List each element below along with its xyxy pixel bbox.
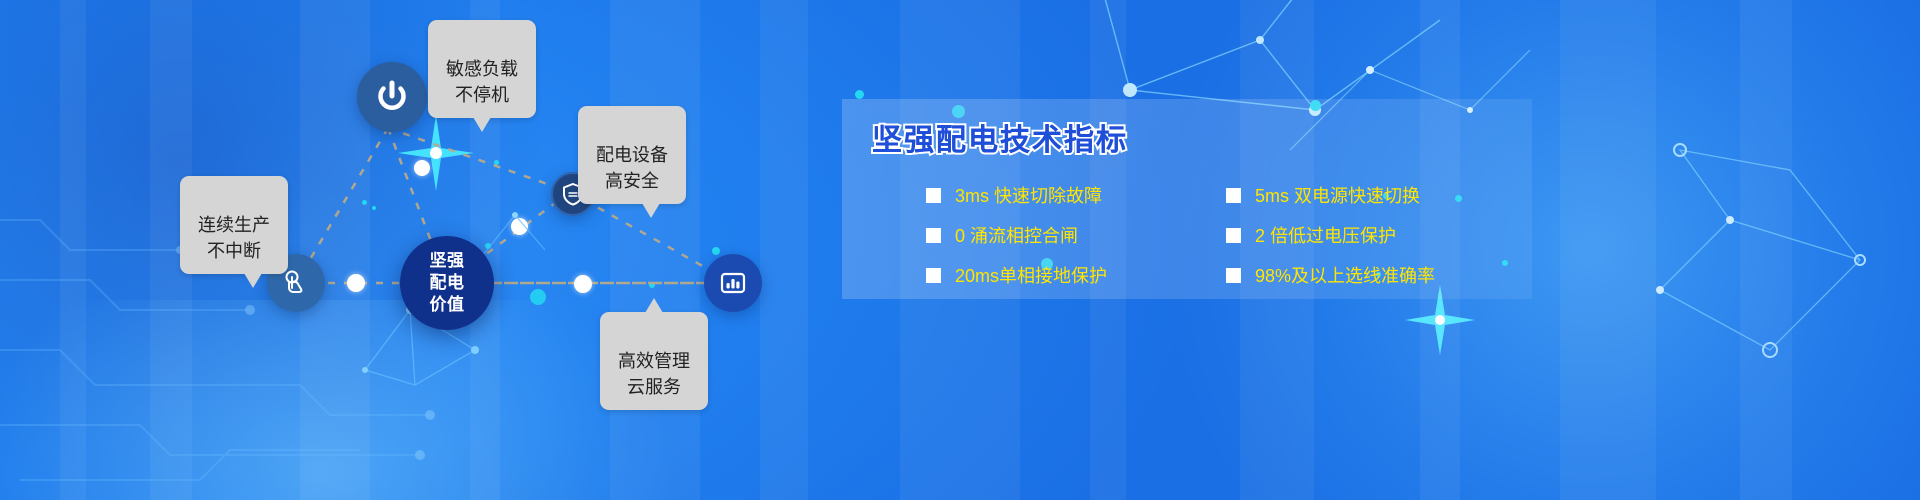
spec-marker-icon	[1226, 228, 1241, 243]
callout-distribution-safety[interactable]: 配电设备 高安全	[578, 106, 686, 204]
spec-marker-icon	[1226, 188, 1241, 203]
spec-marker-icon	[926, 228, 941, 243]
spec-text: 3ms 快速切除故障	[955, 182, 1102, 208]
spec-text: 0 涌流相控合闸	[955, 222, 1078, 248]
power-icon	[374, 79, 410, 115]
spec-text: 2 倍低过电压保护	[1255, 222, 1396, 248]
callout-cloud-management-text: 高效管理 云服务	[618, 351, 690, 397]
spec-text: 5ms 双电源快速切换	[1255, 182, 1420, 208]
callout-continuous-production-text: 连续生产 不中断	[198, 215, 270, 261]
spec-item: 2 倍低过电压保护	[1226, 215, 1504, 255]
center-node-label: 坚强 配电 价值	[430, 250, 465, 316]
spec-item: 0 涌流相控合闸	[926, 215, 1204, 255]
callout-sensitive-load-text: 敏感负载 不停机	[446, 59, 518, 105]
center-node[interactable]: 坚强 配电 价值	[400, 236, 494, 330]
spec-panel: 坚强配电技术指标 坚强配电技术指标 3ms 快速切除故障 5ms 双电源快速切换…	[842, 99, 1532, 299]
spec-marker-icon	[1226, 268, 1241, 283]
network-decoration-right	[1650, 140, 1920, 390]
callout-distribution-safety-text: 配电设备 高安全	[596, 145, 668, 191]
spec-panel-title: 坚强配电技术指标	[872, 115, 1128, 159]
spec-marker-icon	[926, 188, 941, 203]
spec-marker-icon	[926, 268, 941, 283]
spec-item: 3ms 快速切除故障	[926, 175, 1204, 215]
connector-dot	[347, 274, 365, 292]
spec-text: 20ms单相接地保护	[955, 262, 1107, 288]
connector-dot	[414, 160, 430, 176]
callout-cloud-management[interactable]: 高效管理 云服务	[600, 312, 708, 410]
banner-stage: 坚强 配电 价值 敏感负载 不停机 配电设备 高安全 连续生产 不中断 高效管理…	[0, 0, 1920, 500]
connector-dot	[574, 275, 592, 293]
spec-item: 98%及以上选线准确率	[1226, 255, 1504, 295]
spec-item: 20ms单相接地保护	[926, 255, 1204, 295]
hand-click-icon	[281, 268, 311, 298]
callout-sensitive-load[interactable]: 敏感负载 不停机	[428, 20, 536, 118]
spec-item: 5ms 双电源快速切换	[1226, 175, 1504, 215]
bar-chart-icon	[718, 268, 748, 298]
spec-list: 3ms 快速切除故障 5ms 双电源快速切换 0 涌流相控合闸 2 倍低过电压保…	[926, 175, 1526, 295]
node-power[interactable]	[357, 62, 427, 132]
node-chart[interactable]	[704, 254, 762, 312]
spec-text: 98%及以上选线准确率	[1255, 262, 1435, 288]
callout-continuous-production[interactable]: 连续生产 不中断	[180, 176, 288, 274]
